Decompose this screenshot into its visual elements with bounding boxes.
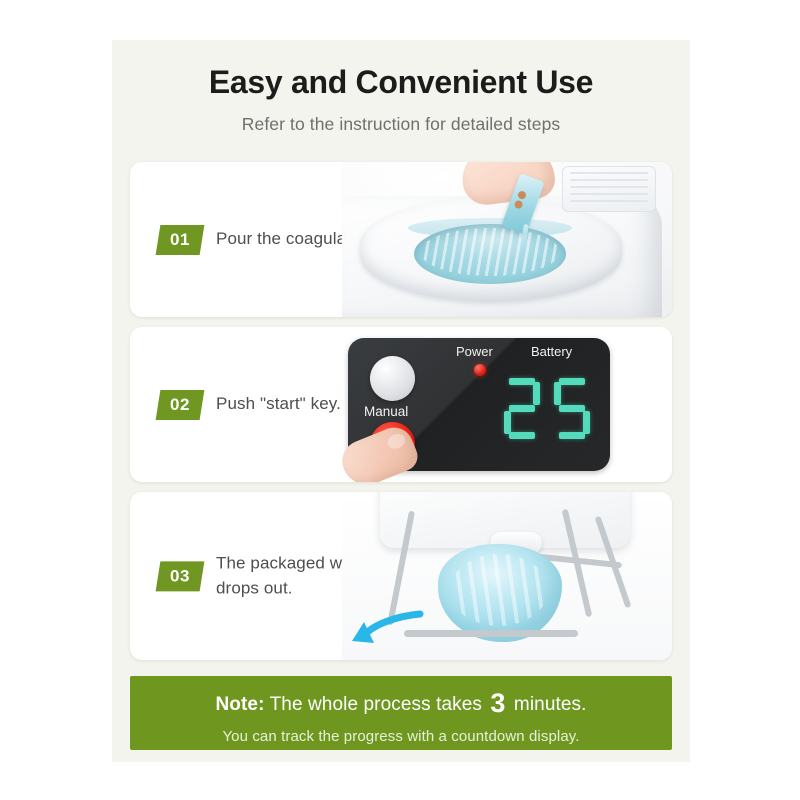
header: Easy and Convenient Use Refer to the ins… xyxy=(112,40,690,135)
step-card-01: 01 Pour the coagulant. xyxy=(130,162,672,317)
power-label: Power xyxy=(456,344,493,359)
infographic-page: Easy and Convenient Use Refer to the ins… xyxy=(0,0,800,800)
step-image-03 xyxy=(342,492,672,660)
note-highlight-number: 3 xyxy=(487,688,508,718)
step-badge-01: 01 xyxy=(158,225,202,255)
seven-segment-digit xyxy=(552,378,592,440)
page-subtitle: Refer to the instruction for detailed st… xyxy=(112,101,690,135)
note-secondary-text: You can track the progress with a countd… xyxy=(130,719,672,745)
step-text: Push "start" key. xyxy=(216,392,341,417)
seven-segment-digit xyxy=(502,378,542,440)
control-panel: Power Battery Manual Start xyxy=(348,338,610,471)
commode-label-panel xyxy=(562,166,656,212)
step-number: 01 xyxy=(158,225,202,255)
page-title: Easy and Convenient Use xyxy=(112,40,690,101)
countdown-display xyxy=(502,378,592,440)
drop-direction-arrow-icon xyxy=(350,610,424,648)
step-label-01: 01 Pour the coagulant. xyxy=(158,225,365,255)
step-card-02: 02 Push "start" key. Power Battery Manua… xyxy=(130,327,672,482)
step-badge-03: 03 xyxy=(158,561,202,591)
step-image-02: Power Battery Manual Start xyxy=(342,327,672,482)
power-led-icon xyxy=(474,364,486,376)
commode-bowl-liner xyxy=(414,224,566,284)
step-image-01 xyxy=(342,162,672,317)
note-text-after: minutes. xyxy=(509,694,587,715)
frame-bottom-bar xyxy=(404,630,578,637)
content-panel: Easy and Convenient Use Refer to the ins… xyxy=(112,40,690,762)
note-primary-text: Note: The whole process takes 3 minutes. xyxy=(130,676,672,719)
note-bar: Note: The whole process takes 3 minutes.… xyxy=(130,676,672,750)
manual-button-label: Manual xyxy=(364,404,408,419)
note-label: Note: xyxy=(215,694,264,715)
manual-button[interactable] xyxy=(370,356,415,401)
battery-label: Battery xyxy=(531,344,572,359)
note-text-before: The whole process takes xyxy=(265,694,488,715)
step-card-03: 03 The packaged waste drops out. xyxy=(130,492,672,660)
step-label-02: 02 Push "start" key. xyxy=(158,390,341,420)
step-badge-02: 02 xyxy=(158,390,202,420)
step-number: 02 xyxy=(158,390,202,420)
step-number: 03 xyxy=(158,561,202,591)
